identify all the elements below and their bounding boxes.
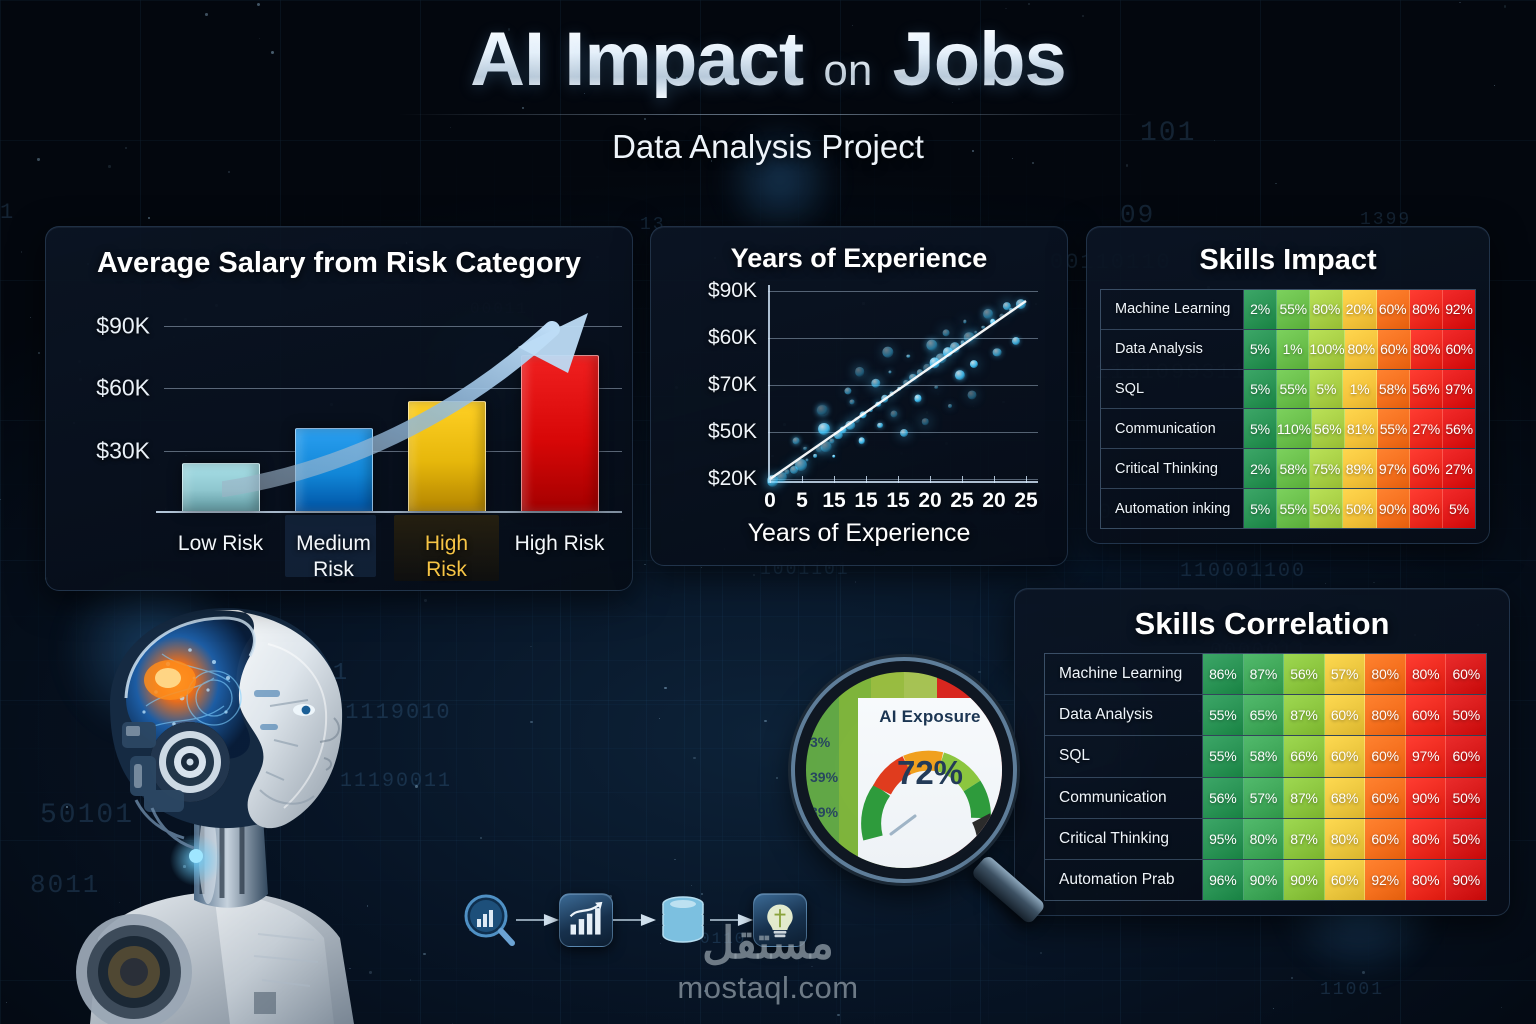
heatmap-row: Critical Thinking2%58%75%89%97%60%27% — [1101, 449, 1475, 489]
heatmap-cell[interactable]: 90% — [1284, 860, 1325, 900]
skill-row-label[interactable]: Data Analysis — [1101, 330, 1244, 369]
heatmap-cell[interactable]: 2% — [1244, 449, 1277, 488]
scatter-point — [950, 343, 960, 353]
scatter-point — [860, 411, 867, 418]
heatmap-row: Automation inking5%55%50%50%90%80%5% — [1101, 489, 1475, 528]
heatmap-row: Data Analysis55%65%87%60%80%60%50% — [1045, 695, 1486, 736]
heatmap-cell[interactable]: 80% — [1310, 290, 1343, 329]
scatter-point — [916, 369, 922, 375]
bar-y-tick-label: $30K — [96, 437, 164, 464]
heatmap-cell[interactable]: 60% — [1325, 695, 1366, 735]
scatter-point — [968, 390, 977, 399]
heatmap-cell[interactable]: 60% — [1446, 654, 1486, 694]
scatter-point — [891, 410, 898, 417]
scatter-y-tick-label: $90K — [708, 279, 768, 303]
skill-row-label[interactable]: SQL — [1101, 370, 1244, 409]
heatmap-cell[interactable]: 89% — [1343, 449, 1376, 488]
scatter-point — [1012, 337, 1020, 345]
scatter-x-tick — [802, 476, 803, 483]
skill-row-label[interactable]: Critical Thinking — [1045, 819, 1203, 859]
scatter-x-tick-label: 25 — [1014, 489, 1037, 513]
scatter-x-axis — [768, 481, 1038, 483]
heatmap-cell[interactable]: 50% — [1310, 489, 1343, 528]
scatter-gridline — [768, 291, 1038, 292]
scatter-point — [804, 447, 808, 451]
scatter-y-tick-label: $70K — [708, 373, 768, 397]
heatmap-row: Critical Thinking95%80%87%80%60%80%50% — [1045, 819, 1486, 860]
heatmap-cell[interactable]: 58% — [1244, 736, 1285, 776]
scatter-x-tick-label: 5 — [796, 489, 808, 513]
gauge-side-label: 39% — [810, 769, 858, 785]
skills-impact-heatmap: Machine Learning2%55%80%20%60%80%92%Data… — [1100, 289, 1476, 529]
scatter-point — [904, 380, 910, 386]
scatter-point — [795, 459, 807, 471]
scatter-point — [882, 347, 893, 358]
skill-row-label[interactable]: Communication — [1101, 409, 1244, 448]
scatter-chart-title: Years of Experience — [651, 243, 1067, 274]
heatmap-cell[interactable]: 56% — [1312, 409, 1345, 448]
scatter-point — [1016, 299, 1026, 309]
heatmap-cell[interactable]: 60% — [1377, 290, 1410, 329]
skill-row-label[interactable]: Machine Learning — [1101, 290, 1244, 329]
heatmap-cell[interactable]: 55% — [1277, 290, 1310, 329]
scatter-x-tick — [930, 476, 931, 483]
heatmap-cell[interactable]: 5% — [1244, 489, 1277, 528]
heatmap-cell[interactable]: 20% — [1343, 290, 1376, 329]
heatmap-cell[interactable]: 80% — [1406, 860, 1447, 900]
heatmap-cell[interactable]: 80% — [1365, 695, 1406, 735]
bar-chart-bar[interactable] — [408, 401, 486, 511]
skills-impact-panel: Skills Impact Machine Learning2%55%80%20… — [1086, 226, 1490, 544]
skill-row-label[interactable]: Machine Learning — [1045, 654, 1203, 694]
heatmap-cell[interactable]: 56% — [1410, 370, 1443, 409]
bar-chart-x-axis — [156, 511, 622, 513]
scatter-y-tick-label: $60K — [708, 326, 768, 350]
scatter-chart-panel: Years of Experience $90K$60K$70K$50K$20K… — [650, 226, 1068, 566]
scatter-point — [889, 391, 894, 396]
heatmap-cell[interactable]: 5% — [1310, 370, 1343, 409]
scatter-x-tick-label: 20 — [918, 489, 941, 513]
magnified-scale-labels: 3%39%39%76 — [810, 734, 858, 874]
scatter-chart-plot: $90K$60K$70K$50K$20K — [768, 291, 1030, 483]
heatmap-cell[interactable]: 80% — [1345, 330, 1378, 369]
skill-row-label[interactable]: Automation Prab — [1045, 860, 1203, 900]
bar-y-tick-label: $90K — [96, 312, 164, 339]
skills-correlation-panel: Skills Correlation Machine Learning86%87… — [1014, 588, 1510, 916]
bar-chart-panel: Average Salary from Risk Category $90K$6… — [45, 226, 633, 591]
heatmap-cell[interactable]: 5% — [1244, 370, 1277, 409]
bar-chart-title: Average Salary from Risk Category — [46, 247, 632, 280]
heatmap-cell[interactable]: 55% — [1277, 489, 1310, 528]
heatmap-cell[interactable]: 60% — [1410, 449, 1443, 488]
scatter-y-tick-label: $20K — [708, 467, 768, 491]
heatmap-cell[interactable]: 80% — [1365, 654, 1406, 694]
heatmap-row: Communication5%110%56%81%55%27%56% — [1101, 409, 1475, 449]
heatmap-cell[interactable]: 80% — [1410, 489, 1443, 528]
scatter-point — [876, 402, 881, 407]
skills-impact-title: Skills Impact — [1087, 244, 1489, 277]
scatter-point — [963, 320, 966, 323]
scatter-point — [897, 387, 901, 391]
bar-chart-x-labels: Low RiskMediumRiskHighRiskHigh Risk — [164, 523, 616, 585]
heatmap-cell[interactable]: 5% — [1443, 489, 1475, 528]
gauge-side-label: 3% — [810, 734, 858, 750]
heatmap-cell[interactable]: 56% — [1284, 654, 1325, 694]
heatmap-cell[interactable]: 97% — [1377, 449, 1410, 488]
scatter-x-tick-label: 0 — [764, 489, 776, 513]
gauge-side-label: 39% — [810, 804, 858, 820]
heatmap-cell[interactable]: 27% — [1443, 449, 1475, 488]
heatmap-row: Automation Prab96%90%90%60%92%80%90% — [1045, 860, 1486, 900]
gauge-title: AI Exposure — [858, 707, 1002, 727]
heatmap-cell[interactable]: 100% — [1309, 330, 1345, 369]
scatter-x-tick-label: 25 — [950, 489, 973, 513]
scatter-point — [855, 367, 865, 377]
page-title: AI Impact on Jobs — [0, 22, 1536, 98]
heatmap-cell[interactable]: 97% — [1406, 736, 1447, 776]
scatter-point — [922, 418, 928, 424]
heatmap-cell[interactable]: 65% — [1244, 695, 1285, 735]
heatmap-cell[interactable]: 80% — [1411, 330, 1444, 369]
scatter-point — [909, 373, 917, 381]
heatmap-cell[interactable]: 1% — [1343, 370, 1376, 409]
heatmap-cell[interactable]: 87% — [1284, 819, 1325, 859]
heatmap-cell[interactable]: 55% — [1203, 736, 1244, 776]
heatmap-cell[interactable]: 60% — [1406, 695, 1447, 735]
scatter-point — [793, 437, 800, 444]
bar-chart-bar[interactable] — [295, 428, 373, 511]
scatter-point — [806, 458, 809, 461]
scatter-gridline — [768, 385, 1038, 386]
heatmap-cell[interactable]: 60% — [1365, 736, 1406, 776]
heatmap-cell[interactable]: 87% — [1284, 778, 1325, 818]
heatmap-cell[interactable]: 58% — [1277, 449, 1310, 488]
scatter-point — [818, 423, 830, 435]
scatter-point — [974, 331, 977, 334]
heatmap-cell[interactable]: 27% — [1410, 409, 1443, 448]
scatter-point — [869, 408, 873, 412]
bar-chart-plot: $90K$60K$30K — [164, 305, 616, 513]
heatmap-cell[interactable]: 60% — [1446, 736, 1486, 776]
scatter-point — [846, 421, 855, 430]
heatmap-row: SQL5%55%5%1%58%56%97% — [1101, 370, 1475, 410]
heatmap-row: Data Analysis5%1%100%80%60%80%60% — [1101, 330, 1475, 370]
heatmap-cell[interactable]: 55% — [1203, 695, 1244, 735]
heatmap-cell[interactable]: 60% — [1325, 860, 1366, 900]
heatmap-cell[interactable]: 90% — [1406, 778, 1447, 818]
heatmap-cell[interactable]: 57% — [1244, 778, 1285, 818]
header-divider — [398, 114, 1138, 115]
heatmap-cell[interactable]: 60% — [1443, 330, 1475, 369]
scatter-point — [948, 404, 952, 408]
watermark-latin: mostaql.com — [0, 970, 1536, 1006]
page-title-connector: on — [823, 46, 872, 95]
heatmap-cell[interactable]: 80% — [1410, 290, 1443, 329]
heatmap-cell[interactable]: 97% — [1443, 370, 1475, 409]
heatmap-cell[interactable]: 92% — [1365, 860, 1406, 900]
gauge-card: AI Exposure 72% — [858, 698, 1002, 868]
scatter-point — [935, 385, 938, 388]
heatmap-cell[interactable]: 80% — [1244, 819, 1285, 859]
bar-chart-bar[interactable] — [182, 463, 260, 511]
scatter-point — [871, 378, 880, 387]
heatmap-cell[interactable]: 75% — [1310, 449, 1343, 488]
heatmap-cell[interactable]: 60% — [1325, 736, 1366, 776]
page-title-tail: Jobs — [892, 17, 1065, 102]
heatmap-cell[interactable]: 57% — [1325, 654, 1366, 694]
heatmap-cell[interactable]: 80% — [1406, 654, 1447, 694]
watermark-arabic: مستقل — [0, 922, 1536, 966]
heatmap-cell[interactable]: 90% — [1446, 860, 1486, 900]
heatmap-cell[interactable]: 110% — [1277, 409, 1312, 448]
scatter-x-tick-label: 15 — [886, 489, 909, 513]
heatmap-cell[interactable]: 60% — [1378, 330, 1411, 369]
heatmap-cell[interactable]: 58% — [1377, 370, 1410, 409]
heatmap-cell[interactable]: 56% — [1443, 409, 1475, 448]
scatter-point — [964, 332, 975, 343]
heatmap-cell[interactable]: 55% — [1378, 409, 1411, 448]
scatter-x-tick-label: 15 — [822, 489, 845, 513]
scatter-point — [914, 395, 921, 402]
scatter-point — [881, 395, 888, 402]
bar-chart-bar[interactable] — [521, 355, 599, 511]
magnifier-handle — [970, 854, 1046, 925]
scatter-point — [832, 454, 835, 457]
heatmap-cell[interactable]: 87% — [1284, 695, 1325, 735]
scatter-x-tick — [1026, 476, 1027, 483]
scatter-x-tick-labels: 0515151520252025 — [768, 489, 1030, 515]
scatter-x-tick — [866, 476, 867, 483]
scatter-point — [983, 309, 993, 319]
scatter-point — [970, 360, 978, 368]
scatter-x-tick — [994, 476, 995, 483]
heatmap-cell[interactable]: 95% — [1203, 819, 1244, 859]
skill-row-label[interactable]: SQL — [1045, 736, 1203, 776]
scatter-x-tick — [834, 476, 835, 483]
scatter-x-tick — [898, 476, 899, 483]
magnifier-gauge: 3%39%39%76 AI Exposure 72% — [783, 655, 1045, 945]
scatter-point — [900, 429, 908, 437]
header: AI Impact on Jobs Data Analysis Project — [0, 22, 1536, 166]
heatmap-cell[interactable]: 90% — [1244, 860, 1285, 900]
scatter-x-tick-label: 20 — [982, 489, 1005, 513]
bar-x-category-label: Low Risk — [164, 523, 277, 557]
scatter-y-tick-label: $50K — [708, 420, 768, 444]
heatmap-cell[interactable]: 55% — [1277, 370, 1310, 409]
scatter-point — [813, 454, 817, 458]
heatmap-cell[interactable]: 87% — [1244, 654, 1285, 694]
magnifier-contents: 3%39%39%76 AI Exposure 72% — [806, 672, 1002, 868]
heatmap-cell[interactable]: 81% — [1345, 409, 1378, 448]
heatmap-cell[interactable]: 50% — [1446, 819, 1486, 859]
scatter-point — [1009, 308, 1013, 312]
scatter-point — [990, 319, 996, 325]
skill-row-label[interactable]: Automation inking — [1101, 489, 1244, 528]
scatter-point — [817, 405, 827, 415]
gauge-side-label: 76 — [810, 839, 858, 855]
scatter-point — [839, 427, 846, 434]
scatter-point — [942, 330, 949, 337]
scatter-point — [993, 348, 1002, 357]
scatter-point — [960, 340, 965, 345]
scatter-point — [854, 417, 860, 423]
heatmap-cell[interactable]: 60% — [1365, 778, 1406, 818]
heatmap-cell[interactable]: 50% — [1343, 489, 1376, 528]
gauge-value: 72% — [897, 754, 963, 792]
heatmap-cell[interactable]: 60% — [1365, 819, 1406, 859]
bar-y-tick-label: $60K — [96, 375, 164, 402]
scatter-point — [981, 326, 984, 329]
scatter-point — [844, 387, 851, 394]
scatter-point — [888, 370, 891, 373]
scatter-x-axis-title: Years of Experience — [651, 519, 1067, 548]
heatmap-cell[interactable]: 50% — [1446, 695, 1486, 735]
scatter-point — [850, 400, 855, 405]
heatmap-cell[interactable]: 5% — [1244, 409, 1277, 448]
scatter-gridline — [768, 479, 1038, 480]
heatmap-row: Machine Learning86%87%56%57%80%80%60% — [1045, 654, 1486, 695]
heatmap-cell[interactable]: 80% — [1325, 819, 1366, 859]
scatter-x-tick — [770, 476, 771, 483]
scatter-point — [784, 470, 789, 475]
scatter-x-tick — [962, 476, 963, 483]
skill-row-label[interactable]: Critical Thinking — [1101, 449, 1244, 488]
heatmap-cell[interactable]: 86% — [1203, 654, 1244, 694]
page-title-main: AI Impact — [470, 17, 803, 102]
scatter-point — [858, 437, 865, 444]
heatmap-cell[interactable]: 96% — [1203, 860, 1244, 900]
scatter-point — [829, 438, 834, 443]
bar-x-category-label: MediumRisk — [277, 523, 390, 584]
heatmap-cell[interactable]: 66% — [1284, 736, 1325, 776]
bar-x-category-label: High Risk — [503, 523, 616, 557]
scatter-gridline — [768, 338, 1038, 339]
scatter-point — [907, 355, 910, 358]
heatmap-cell[interactable]: 90% — [1377, 489, 1410, 528]
skills-correlation-title: Skills Correlation — [1015, 606, 1509, 642]
heatmap-cell[interactable]: 92% — [1443, 290, 1475, 329]
page-subtitle: Data Analysis Project — [0, 128, 1536, 166]
scatter-point — [877, 423, 883, 429]
scatter-point — [999, 313, 1004, 318]
heatmap-cell[interactable]: 2% — [1244, 290, 1277, 329]
bar-chart-bars — [164, 305, 616, 511]
skill-row-label[interactable]: Communication — [1045, 778, 1203, 818]
scatter-point — [955, 370, 965, 380]
watermark: مستقل mostaql.com — [0, 922, 1536, 1006]
heatmap-cell[interactable]: 80% — [1406, 819, 1447, 859]
bar-x-category-label: HighRisk — [390, 523, 503, 584]
magnifier-lens: 3%39%39%76 AI Exposure 72% — [795, 661, 1013, 879]
skills-correlation-heatmap: Machine Learning86%87%56%57%80%80%60%Dat… — [1044, 653, 1487, 901]
scatter-y-axis — [768, 285, 770, 483]
skill-row-label[interactable]: Data Analysis — [1045, 695, 1203, 735]
heatmap-cell[interactable]: 56% — [1203, 778, 1244, 818]
heatmap-cell[interactable]: 1% — [1277, 330, 1310, 369]
heatmap-row: Machine Learning2%55%80%20%60%80%92% — [1101, 290, 1475, 330]
heatmap-cell[interactable]: 50% — [1446, 778, 1486, 818]
scatter-point — [926, 339, 937, 350]
heatmap-cell[interactable]: 68% — [1325, 778, 1366, 818]
scatter-x-tick-label: 15 — [854, 489, 877, 513]
heatmap-cell[interactable]: 5% — [1244, 330, 1277, 369]
heatmap-row: Communication56%57%87%68%60%90%50% — [1045, 778, 1486, 819]
heatmap-row: SQL55%58%66%60%60%97%60% — [1045, 736, 1486, 777]
